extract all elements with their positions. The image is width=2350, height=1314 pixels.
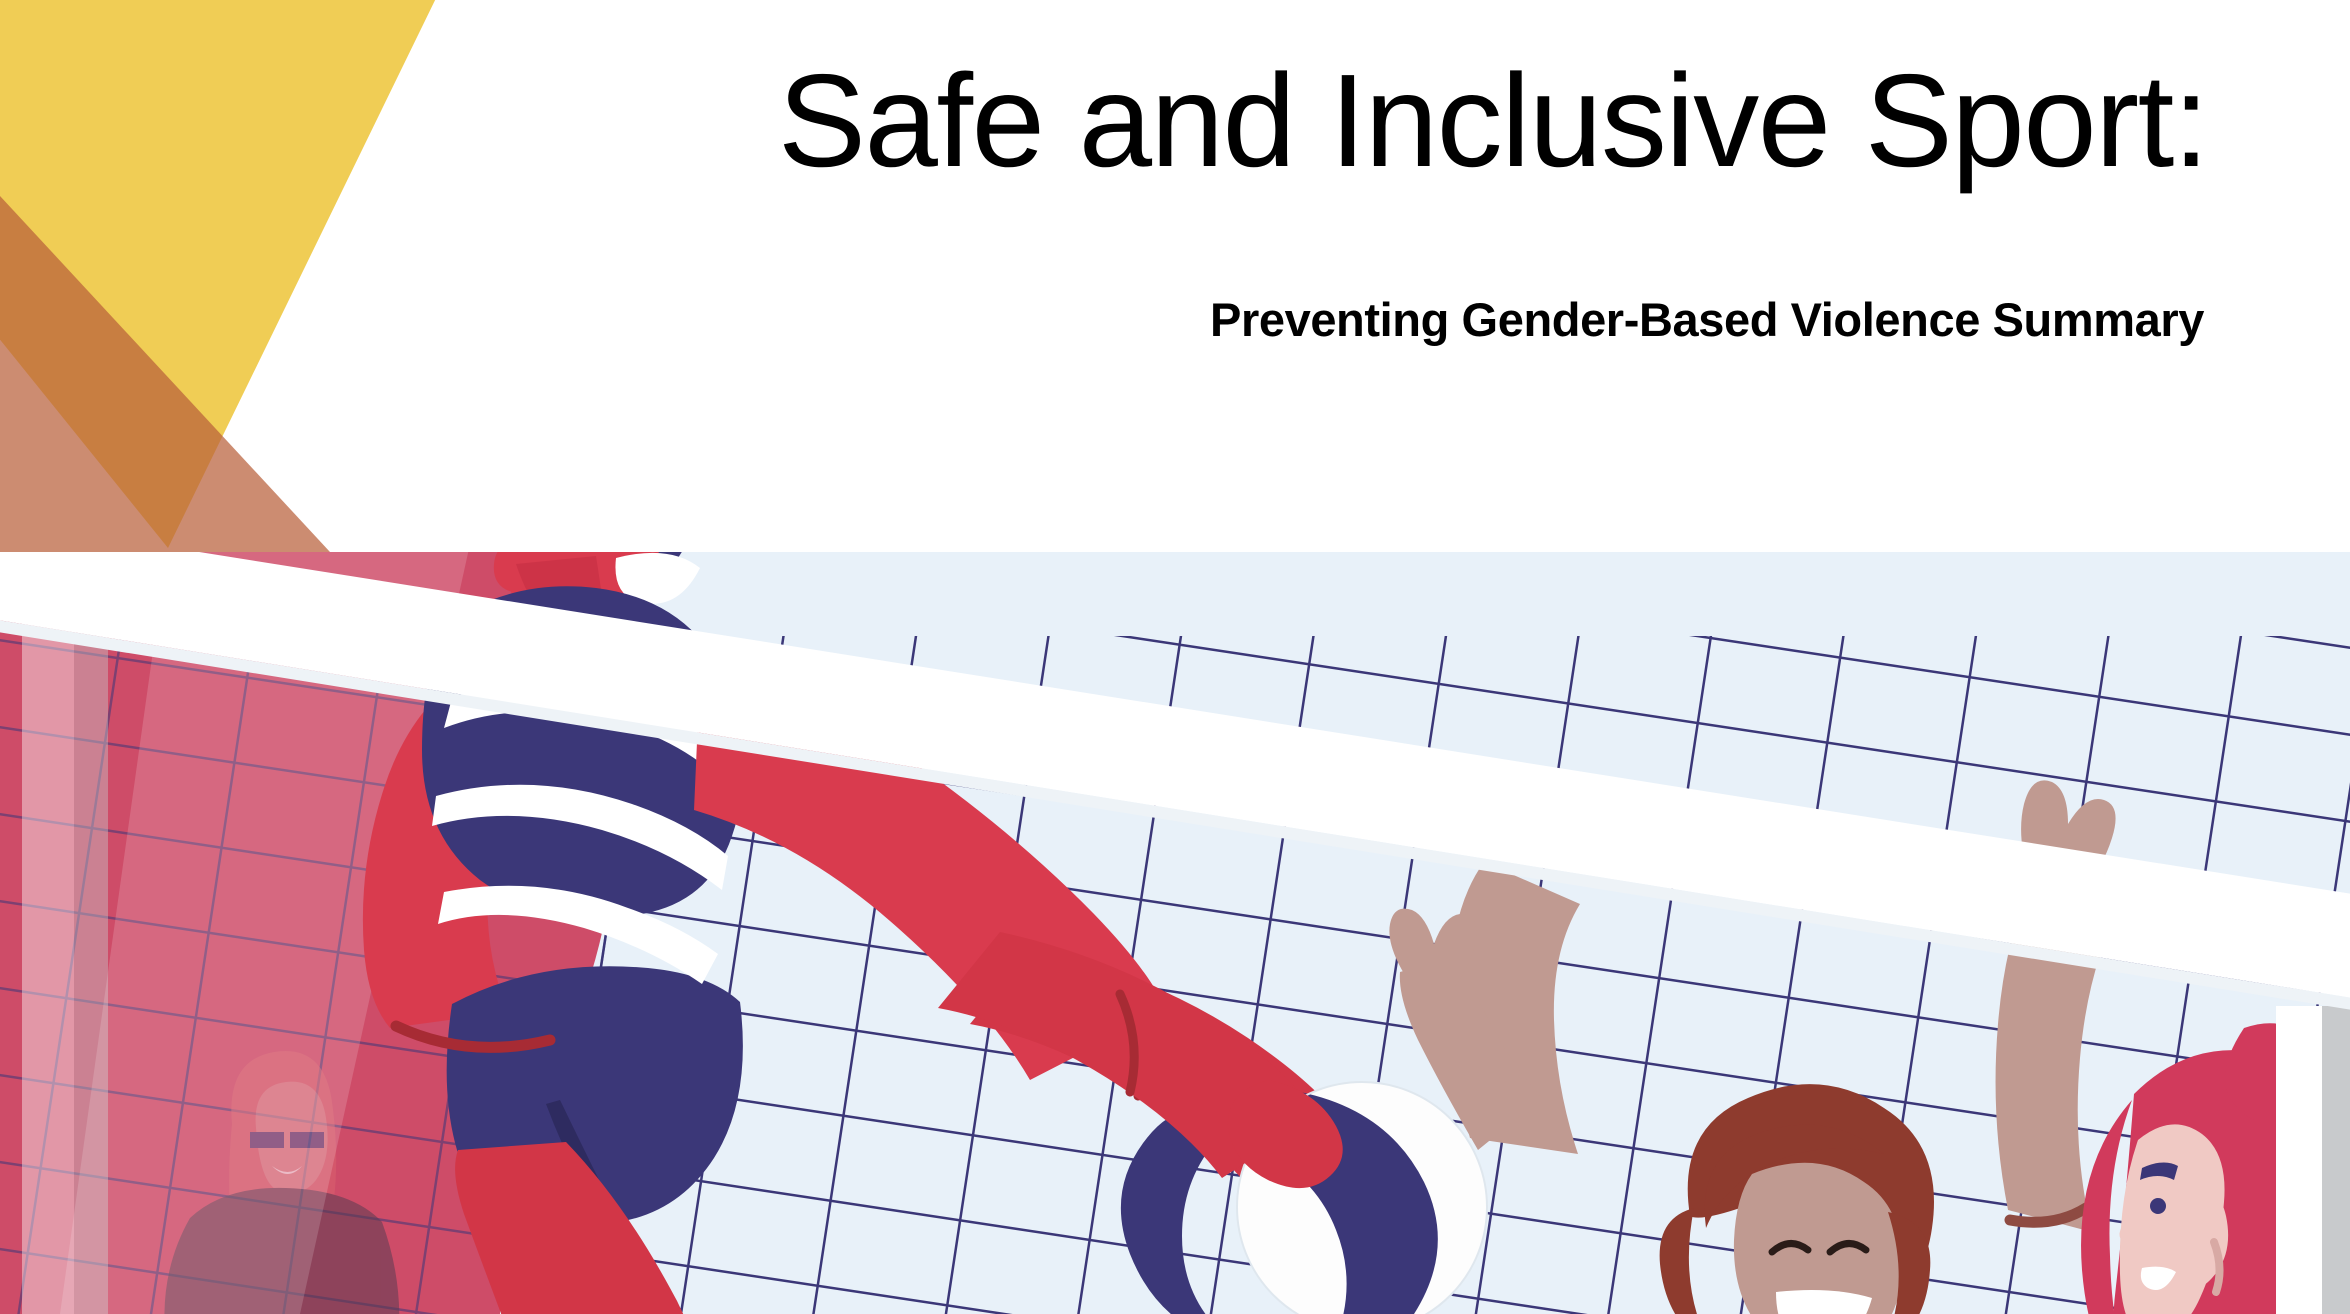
right-net-post xyxy=(2276,1006,2350,1314)
header-band: Safe and Inclusive Sport: Preventing Gen… xyxy=(0,0,2350,552)
cover-illustration xyxy=(0,552,2350,1314)
header-geometric-shapes xyxy=(0,0,2350,552)
volleyball-scene-svg xyxy=(0,552,2350,1314)
cover-page: Safe and Inclusive Sport: Preventing Gen… xyxy=(0,0,2350,1314)
